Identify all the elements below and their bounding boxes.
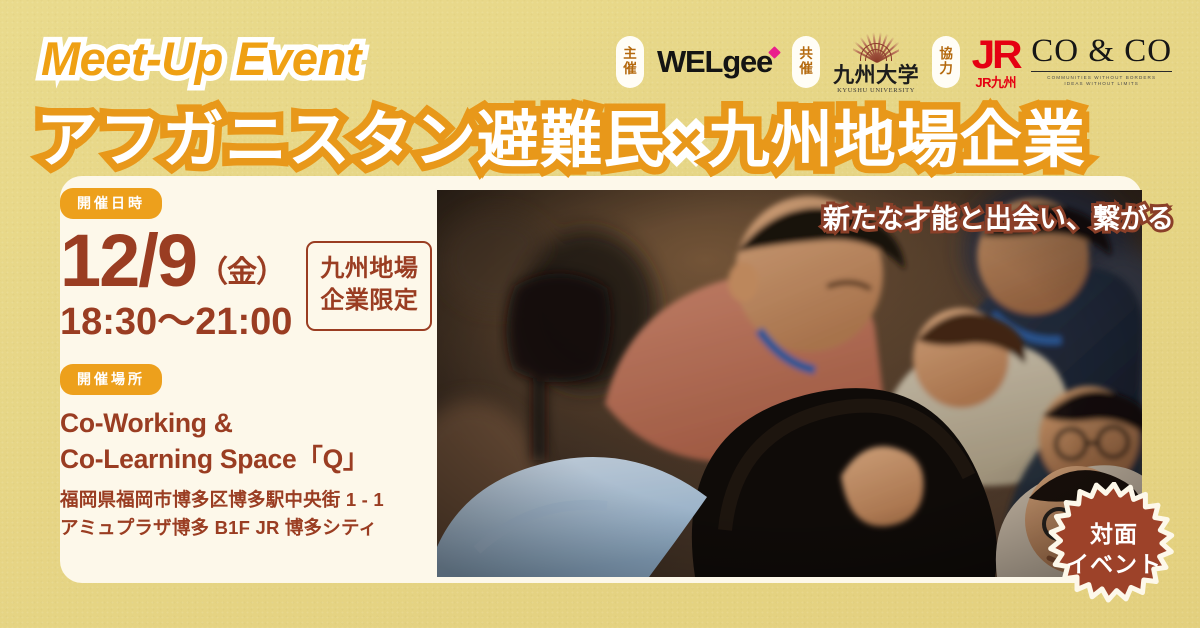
event-details: 開催日時 12/9（金） 18:30～21:00 九州地場 企業限定 開催場所 … (60, 188, 440, 543)
coco-wordmark: CO & CO (1031, 35, 1172, 68)
welgee-logo: WELgee (657, 46, 779, 77)
role-badge-organizer: 主 催 (616, 36, 644, 88)
coco-divider (1031, 71, 1172, 72)
headline-left: アフガニスタン避難民 (36, 106, 666, 175)
kyushu-university-name: 九州大学 (833, 65, 919, 86)
event-date: 12/9（金） (60, 225, 292, 298)
starburst-shape (1051, 484, 1172, 600)
event-photo (437, 190, 1142, 577)
coco-tagline-line2: IDEAS WITHOUT LIMITS (1047, 81, 1156, 88)
coco-logo: CO & CO COMMUNITIES WITHOUT BORDERS IDEA… (1031, 35, 1172, 88)
coco-tagline: COMMUNITIES WITHOUT BORDERS IDEAS WITHOU… (1047, 75, 1156, 88)
role-badge-line2: 催 (799, 62, 813, 77)
venue-address-line1: 福岡県福岡市博多区博多駅中央街 1 - 1 (60, 486, 440, 515)
kyushu-university-logo: 九州大学 KYUSHU UNIVERSITY (833, 29, 919, 94)
jr-kyushu-name: JR九州 (975, 76, 1016, 89)
jr-kyushu-logo: JR JR九州 (973, 35, 1018, 89)
kyushu-university-crest-icon (853, 29, 899, 63)
role-badge-cohost: 共 催 (792, 36, 820, 88)
date-section-tag: 開催日時 (60, 188, 162, 219)
welgee-wordmark: WELgee (657, 44, 772, 79)
role-badge-line1: 共 (799, 47, 813, 62)
venue-name: Co-Working & Co-Learning Space「Q」 (60, 406, 440, 476)
venue-address: 福岡県福岡市博多区博多駅中央街 1 - 1 アミュプラザ博多 B1F JR 博多… (60, 486, 440, 543)
venue-address-line2: アミュプラザ博多 B1F JR 博多シティ (60, 514, 440, 543)
event-time: 18:30～21:00 (60, 302, 292, 344)
poster-tagline: 新たな才能と出会い、繋がる (823, 197, 1174, 236)
audience-restriction-line1: 九州地場 (320, 253, 418, 285)
poster-headline: アフガニスタン避難民×九州地場企業 (36, 108, 1086, 173)
date-row: 12/9（金） 18:30～21:00 九州地場 企業限定 (60, 225, 440, 343)
role-badge-line1: 主 (623, 47, 637, 62)
sponsor-logo-bar: 主 催 WELgee 共 催 (616, 29, 1172, 94)
event-day-of-week: （金） (198, 258, 285, 287)
date-block: 12/9（金） 18:30～21:00 (60, 225, 292, 343)
role-badge-cooperation: 協 力 (932, 36, 960, 88)
venue-name-line2: Co-Learning Space「Q」 (60, 442, 440, 477)
role-badge-line2: 催 (623, 62, 637, 77)
audience-restriction-line2: 企業限定 (320, 285, 418, 317)
headline-cross-icon: × (666, 110, 708, 173)
audience-restriction-box: 九州地場 企業限定 (306, 241, 432, 331)
event-date-value: 12/9 (60, 225, 196, 298)
poster-kicker: Meet-Up Event (41, 31, 361, 86)
venue-section-tag: 開催場所 (60, 364, 162, 395)
jr-mark: JR (972, 35, 1020, 75)
role-badge-line1: 協 (939, 47, 953, 62)
kyushu-university-name-en: KYUSHU UNIVERSITY (837, 88, 915, 95)
coco-tagline-line1: COMMUNITIES WITHOUT BORDERS (1047, 75, 1156, 82)
event-poster: 主 催 WELgee 共 催 (0, 0, 1200, 628)
role-badge-line2: 力 (939, 62, 953, 77)
headline-right: 九州地場企業 (708, 106, 1086, 175)
in-person-badge: 対面 イベント (1046, 482, 1182, 618)
venue-name-line1: Co-Working & (60, 406, 440, 441)
